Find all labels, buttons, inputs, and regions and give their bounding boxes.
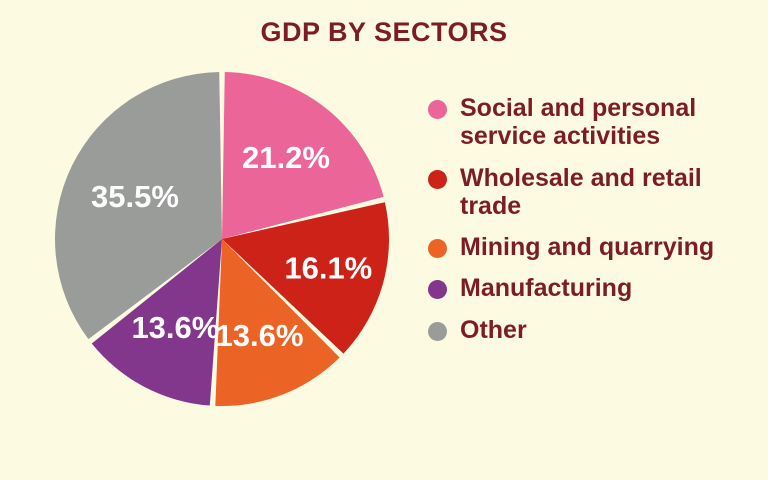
legend-bullet-icon [428, 322, 447, 341]
legend-item[interactable]: Other [428, 316, 758, 344]
legend-item-label: Wholesale and retail trade [460, 164, 750, 221]
pie-slice-value-label: 21.2% [242, 140, 330, 175]
legend-bullet-icon [428, 239, 447, 258]
pie-slices [55, 72, 389, 406]
legend-item[interactable]: Mining and quarrying [428, 233, 758, 261]
pie-chart: 21.2%16.1%13.6%13.6%35.5% [48, 65, 396, 413]
legend-item-label: Other [460, 316, 527, 344]
legend-item-label: Manufacturing [460, 274, 632, 302]
chart-canvas: GDP BY SECTORS 21.2%16.1%13.6%13.6%35.5%… [0, 0, 768, 480]
pie-slice-value-label: 35.5% [91, 179, 179, 214]
pie-chart-svg: 21.2%16.1%13.6%13.6%35.5% [48, 65, 396, 413]
legend-bullet-icon [428, 100, 447, 119]
legend-item[interactable]: Manufacturing [428, 274, 758, 302]
legend-item[interactable]: Social and personal service activities [428, 94, 758, 151]
legend-bullet-icon [428, 280, 447, 299]
pie-slice-value-label: 13.6% [131, 310, 219, 345]
chart-legend: Social and personal service activitiesWh… [428, 94, 758, 357]
page-title: GDP BY SECTORS [0, 17, 768, 48]
pie-slice-value-label: 16.1% [284, 251, 372, 286]
legend-bullet-icon [428, 170, 447, 189]
legend-item-label: Mining and quarrying [460, 233, 714, 261]
legend-item[interactable]: Wholesale and retail trade [428, 164, 758, 221]
legend-item-label: Social and personal service activities [460, 94, 750, 151]
pie-slice-value-label: 13.6% [216, 318, 304, 353]
